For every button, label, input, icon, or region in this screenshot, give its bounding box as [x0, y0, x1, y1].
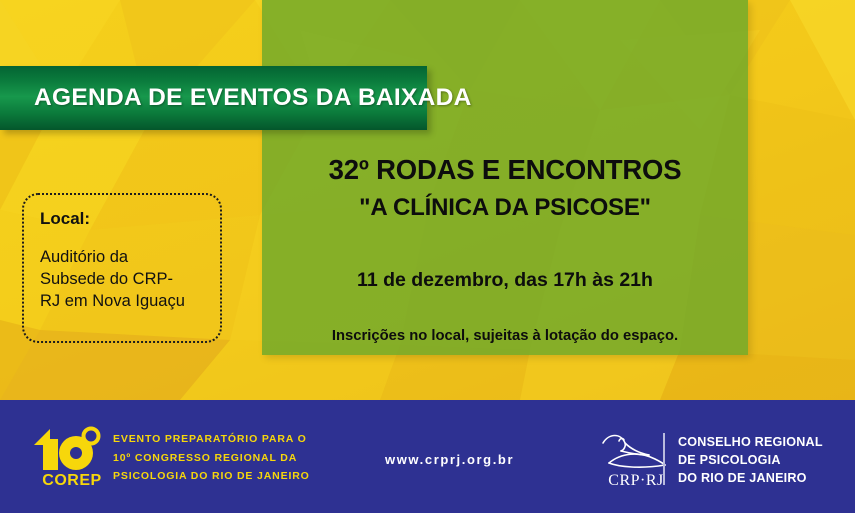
venue-label: Local:	[40, 209, 204, 229]
event-title-line-1: 32º RODAS E ENCONTROS	[262, 154, 748, 186]
event-title-line-2: "A CLÍNICA DA PSICOSE"	[262, 194, 748, 222]
footer-bar: COREP EVENTO PREPARATÓRIO PARA O 10º CON…	[0, 400, 855, 513]
event-registration-note: Inscrições no local, sujeitas à lotação …	[262, 328, 748, 344]
event-details: 32º RODAS E ENCONTROS "A CLÍNICA DA PSIC…	[262, 0, 748, 355]
venue-address-line-1: Auditório da	[40, 247, 204, 269]
venue-box: Local: Auditório da Subsede do CRP- RJ e…	[22, 193, 222, 343]
venue-address-line-3: RJ em Nova Iguaçu	[40, 291, 204, 313]
event-date-time: 11 de dezembro, das 17h às 21h	[262, 269, 748, 292]
crp-rj-name-line-1: CONSELHO REGIONAL	[678, 434, 823, 452]
event-poster: AGENDA DE EVENTOS DA BAIXADA Local: Audi…	[0, 0, 855, 513]
crp-logo-divider	[663, 433, 665, 485]
crp-rj-name: CONSELHO REGIONAL DE PSICOLOGIA DO RIO D…	[678, 434, 823, 488]
website-url[interactable]: www.crprj.org.br	[385, 452, 514, 467]
crp-rj-name-line-3: DO RIO DE JANEIRO	[678, 470, 823, 488]
corep-tagline: EVENTO PREPARATÓRIO PARA O 10º CONGRESSO…	[113, 430, 310, 486]
corep-logo: COREP	[30, 423, 114, 489]
corep-logo-mark: COREP	[30, 423, 114, 489]
corep-tagline-line-1: EVENTO PREPARATÓRIO PARA O	[113, 430, 310, 449]
svg-text:COREP: COREP	[42, 472, 101, 489]
corep-tagline-line-3: PSICOLOGIA DO RIO DE JANEIRO	[113, 467, 310, 486]
venue-address: Auditório da Subsede do CRP- RJ em Nova …	[40, 247, 204, 312]
venue-address-line-2: Subsede do CRP-	[40, 269, 204, 291]
svg-text:CRP·RJ: CRP·RJ	[608, 472, 663, 489]
corep-tagline-line-2: 10º CONGRESSO REGIONAL DA	[113, 449, 310, 468]
crp-rj-name-line-2: DE PSICOLOGIA	[678, 452, 823, 470]
